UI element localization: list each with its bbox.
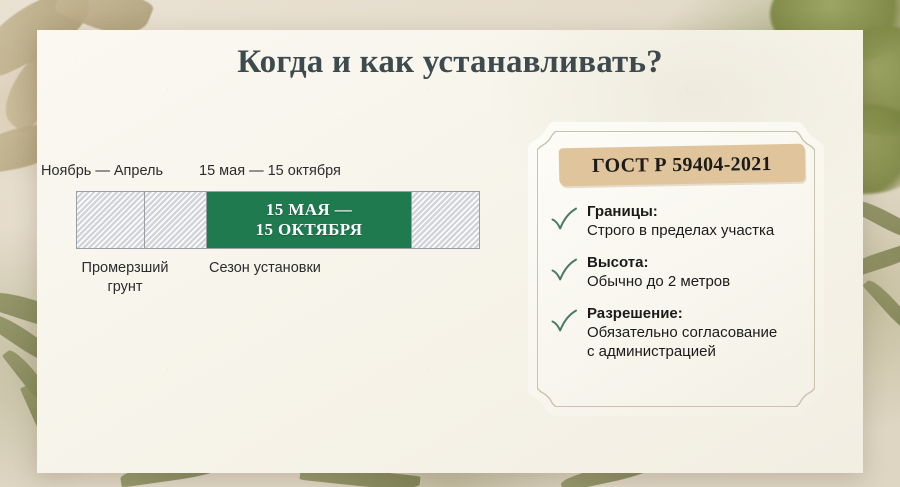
dried-sprig-icon: [862, 276, 900, 337]
timeline-segment-november: [77, 192, 144, 248]
gost-card-content: ГОСТ Р 59404-2021 Границы: Строго в пред…: [550, 144, 804, 398]
requirement-description: Обычно до 2 метров: [587, 273, 730, 290]
list-item: Высота: Обычно до 2 метров: [550, 253, 804, 291]
check-icon: [550, 207, 578, 233]
gost-standard-label: ГОСТ Р 59404-2021: [592, 153, 772, 178]
list-item-text: Высота: Обычно до 2 метров: [587, 253, 730, 291]
requirement-description: Обязательно согласование с администрацие…: [587, 324, 777, 360]
timeline-caption-frozen-ground: Промерзший грунт: [57, 259, 193, 297]
list-item: Границы: Строго в пределах участка: [550, 202, 804, 240]
timeline-label-frozen-period: Ноябрь — Апрель: [41, 163, 163, 179]
timeline-label-season-period: 15 мая — 15 октября: [199, 163, 341, 179]
timeline-segment-april: [144, 192, 206, 248]
check-icon: [550, 309, 578, 335]
gost-requirements-list: Границы: Строго в пределах участка Высот…: [550, 202, 804, 361]
requirement-term: Границы:: [587, 203, 658, 220]
requirement-description: Строго в пределах участка: [587, 222, 774, 239]
list-item-text: Границы: Строго в пределах участка: [587, 202, 774, 240]
list-item: Разрешение: Обязательно согласование с а…: [550, 304, 804, 361]
gost-card: ГОСТ Р 59404-2021 Границы: Строго в пред…: [528, 122, 824, 416]
timeline-top-labels: Ноябрь — Апрель 15 мая — 15 октября: [39, 163, 483, 187]
page-title: Когда и как устанавливать?: [0, 44, 900, 81]
requirement-term: Высота:: [587, 254, 648, 271]
timeline-segment-tail: [412, 192, 479, 248]
timeline-segment-installation-season: 15 МАЯ — 15 ОКТЯБРЯ: [206, 192, 412, 248]
requirement-term: Разрешение:: [587, 305, 683, 322]
check-icon: [550, 258, 578, 284]
timeline-green-label: 15 МАЯ — 15 ОКТЯБРЯ: [256, 200, 363, 240]
timeline-diagram: Ноябрь — Апрель 15 мая — 15 октября 15 М…: [39, 163, 483, 348]
timeline-bar: 15 МАЯ — 15 ОКТЯБРЯ: [76, 191, 480, 249]
gost-standard-banner: ГОСТ Р 59404-2021: [559, 144, 806, 187]
list-item-text: Разрешение: Обязательно согласование с а…: [587, 304, 777, 361]
timeline-caption-installation-season: Сезон установки: [209, 259, 379, 278]
